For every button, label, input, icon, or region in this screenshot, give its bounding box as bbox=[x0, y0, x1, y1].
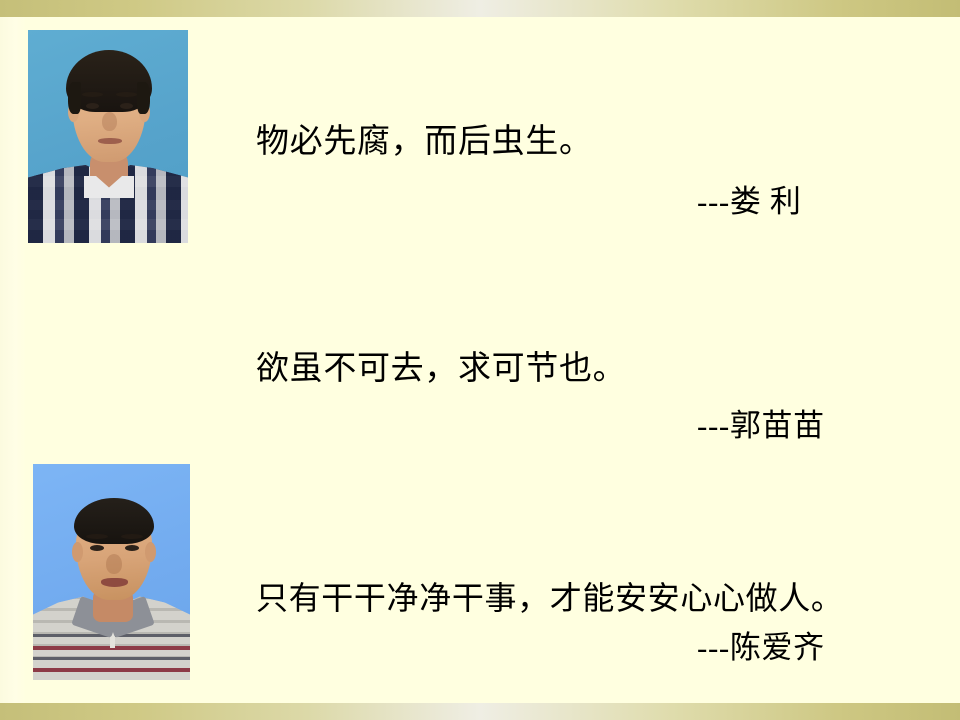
quote-2-attribution: ---郭苗苗 bbox=[697, 410, 825, 441]
quote-1-text: 物必先腐，而后虫生。 bbox=[256, 126, 593, 159]
eyebrow-left bbox=[82, 92, 103, 97]
quote-3-attribution: ---陈爱齐 bbox=[697, 632, 825, 663]
hair-sideburn-right bbox=[137, 82, 150, 114]
quote-1-attribution: ---娄 利 bbox=[697, 186, 801, 217]
quote-2-text: 欲虽不可去，求可节也。 bbox=[256, 353, 626, 386]
bottom-border-band bbox=[0, 703, 960, 720]
eye-left bbox=[90, 545, 104, 551]
nose bbox=[102, 112, 117, 131]
mouth bbox=[98, 138, 122, 144]
ear-left bbox=[72, 542, 83, 562]
eye-right bbox=[120, 103, 133, 109]
polo-stripe bbox=[33, 657, 190, 660]
left-edge-wash bbox=[0, 17, 26, 703]
top-border-band bbox=[0, 0, 960, 17]
hair-sideburn-left bbox=[68, 82, 81, 114]
mouth bbox=[101, 578, 128, 587]
portrait-photo-top bbox=[28, 30, 188, 243]
eyebrow-right bbox=[116, 92, 137, 97]
presentation-slide: 物必先腐，而后虫生。 ---娄 利 欲虽不可去，求可节也。 ---郭苗苗 只有干… bbox=[0, 0, 960, 720]
eyebrow-right bbox=[121, 534, 143, 539]
polo-stripe bbox=[33, 668, 190, 672]
eyebrow-left bbox=[86, 534, 108, 539]
portrait-photo-bottom bbox=[33, 464, 190, 680]
quote-3-text: 只有干干净净干事，才能安安心心做人。 bbox=[256, 582, 844, 614]
eye-left bbox=[86, 103, 99, 109]
ear-right bbox=[145, 542, 156, 562]
nose bbox=[106, 554, 122, 574]
eye-right bbox=[125, 545, 139, 551]
